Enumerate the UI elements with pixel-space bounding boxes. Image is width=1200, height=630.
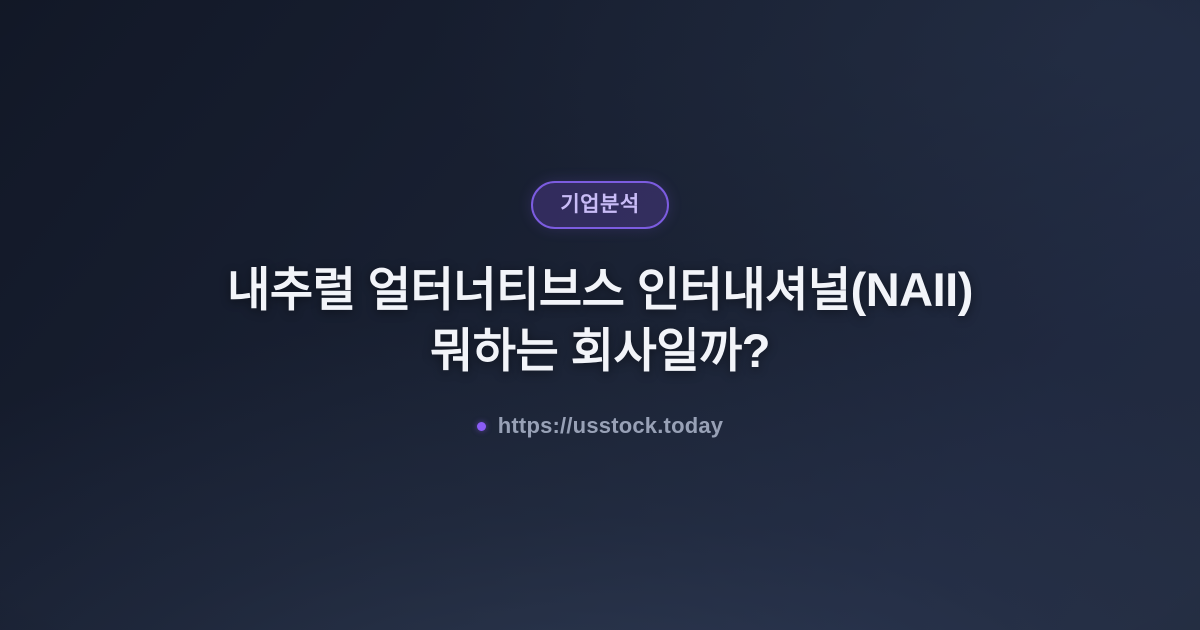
category-badge: 기업분석 xyxy=(531,181,668,229)
bullet-dot-icon xyxy=(477,422,486,431)
category-badge-label: 기업분석 xyxy=(560,194,639,215)
og-share-card: 기업분석 내추럴 얼터너티브스 인터내셔널(NAII) 뭐하는 회사일까? ht… xyxy=(0,0,1200,630)
page-title-line-2: 뭐하는 회사일까? xyxy=(227,320,973,381)
card-content: 기업분석 내추럴 얼터너티브스 인터내셔널(NAII) 뭐하는 회사일까? ht… xyxy=(80,181,1120,437)
site-url-label: https://usstock.today xyxy=(498,415,723,437)
site-url-row: https://usstock.today xyxy=(477,415,723,437)
page-title: 내추럴 얼터너티브스 인터내셔널(NAII) 뭐하는 회사일까? xyxy=(227,259,973,381)
page-title-line-1: 내추럴 얼터너티브스 인터내셔널(NAII) xyxy=(227,259,973,320)
